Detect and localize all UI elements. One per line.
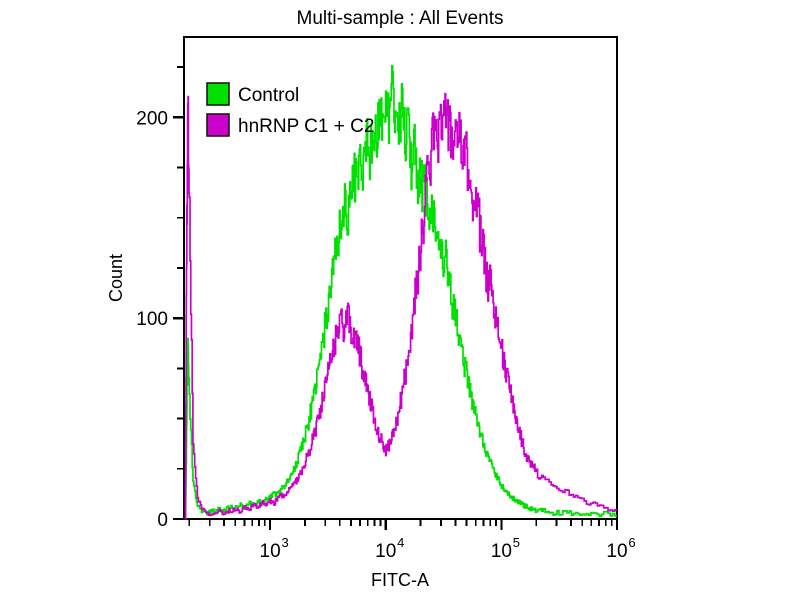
x-axis-title: FITC-A bbox=[371, 570, 429, 590]
y-tick-label: 0 bbox=[157, 510, 168, 531]
legend-swatch bbox=[207, 83, 229, 105]
y-tick-label: 200 bbox=[136, 108, 168, 129]
x-tick-label-mantissa: 10 bbox=[606, 541, 627, 562]
x-tick-label-mantissa: 10 bbox=[491, 541, 512, 562]
legend-item[interactable]: Control bbox=[207, 83, 299, 106]
histogram-chart: Multi-sample : All Events 0100200 103104… bbox=[0, 0, 800, 600]
x-tick-label-exponent: 3 bbox=[281, 535, 288, 550]
x-tick-label-mantissa: 10 bbox=[375, 541, 396, 562]
x-tick-label-exponent: 4 bbox=[397, 535, 404, 550]
y-axis-title: Count bbox=[106, 254, 126, 302]
x-tick-label-exponent: 5 bbox=[513, 535, 520, 550]
legend-label: hnRNP C1 + C2 bbox=[238, 116, 374, 137]
legend-label: Control bbox=[238, 85, 299, 106]
flow-cytometry-histogram-panel: Multi-sample : All Events 0100200 103104… bbox=[0, 0, 800, 600]
x-tick-label-mantissa: 10 bbox=[260, 541, 281, 562]
chart-title: Multi-sample : All Events bbox=[297, 8, 504, 29]
y-tick-label: 100 bbox=[136, 309, 168, 330]
x-tick-label-exponent: 6 bbox=[628, 535, 635, 550]
legend-swatch bbox=[207, 114, 229, 136]
